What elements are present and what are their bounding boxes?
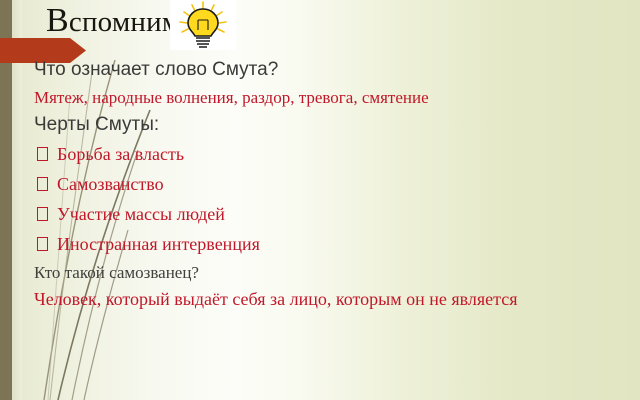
bullet-marker-icon bbox=[37, 177, 48, 191]
lightbulb-icon bbox=[170, 0, 236, 50]
slide-body: Что означает слово Смута? Мятеж, народны… bbox=[34, 56, 624, 313]
page-title-initial: В bbox=[46, 2, 69, 39]
bullet-marker-icon bbox=[37, 237, 48, 251]
lightbulb-image bbox=[170, 0, 236, 50]
list-item-label: Самозванство bbox=[57, 174, 164, 194]
question-2: Кто такой самозванец? bbox=[34, 259, 624, 286]
list-item: Иностранная интервенция bbox=[34, 229, 624, 259]
feature-list: Борьба за власть Самозванство Участие ма… bbox=[34, 139, 624, 259]
list-item-label: Иностранная интервенция bbox=[57, 234, 260, 254]
list-item-label: Борьба за власть bbox=[57, 144, 184, 164]
heading-cherty-smuty: Черты Смуты: bbox=[34, 111, 624, 139]
bullet-marker-icon bbox=[37, 207, 48, 221]
list-item-label: Участие массы людей bbox=[57, 204, 225, 224]
page-title-rest: спомним bbox=[69, 6, 180, 38]
question-1: Что означает слово Смута? bbox=[34, 56, 624, 84]
list-item: Самозванство bbox=[34, 169, 624, 199]
answer-1: Мятеж, народные волнения, раздор, тревог… bbox=[34, 84, 624, 111]
list-item: Борьба за власть bbox=[34, 139, 624, 169]
list-item: Участие массы людей bbox=[34, 199, 624, 229]
presentation-slide: Вспомним bbox=[0, 0, 640, 400]
answer-2: Человек, который выдаёт себя за лицо, ко… bbox=[34, 286, 574, 313]
bullet-marker-icon bbox=[37, 147, 48, 161]
page-title: Вспомним bbox=[46, 4, 180, 39]
